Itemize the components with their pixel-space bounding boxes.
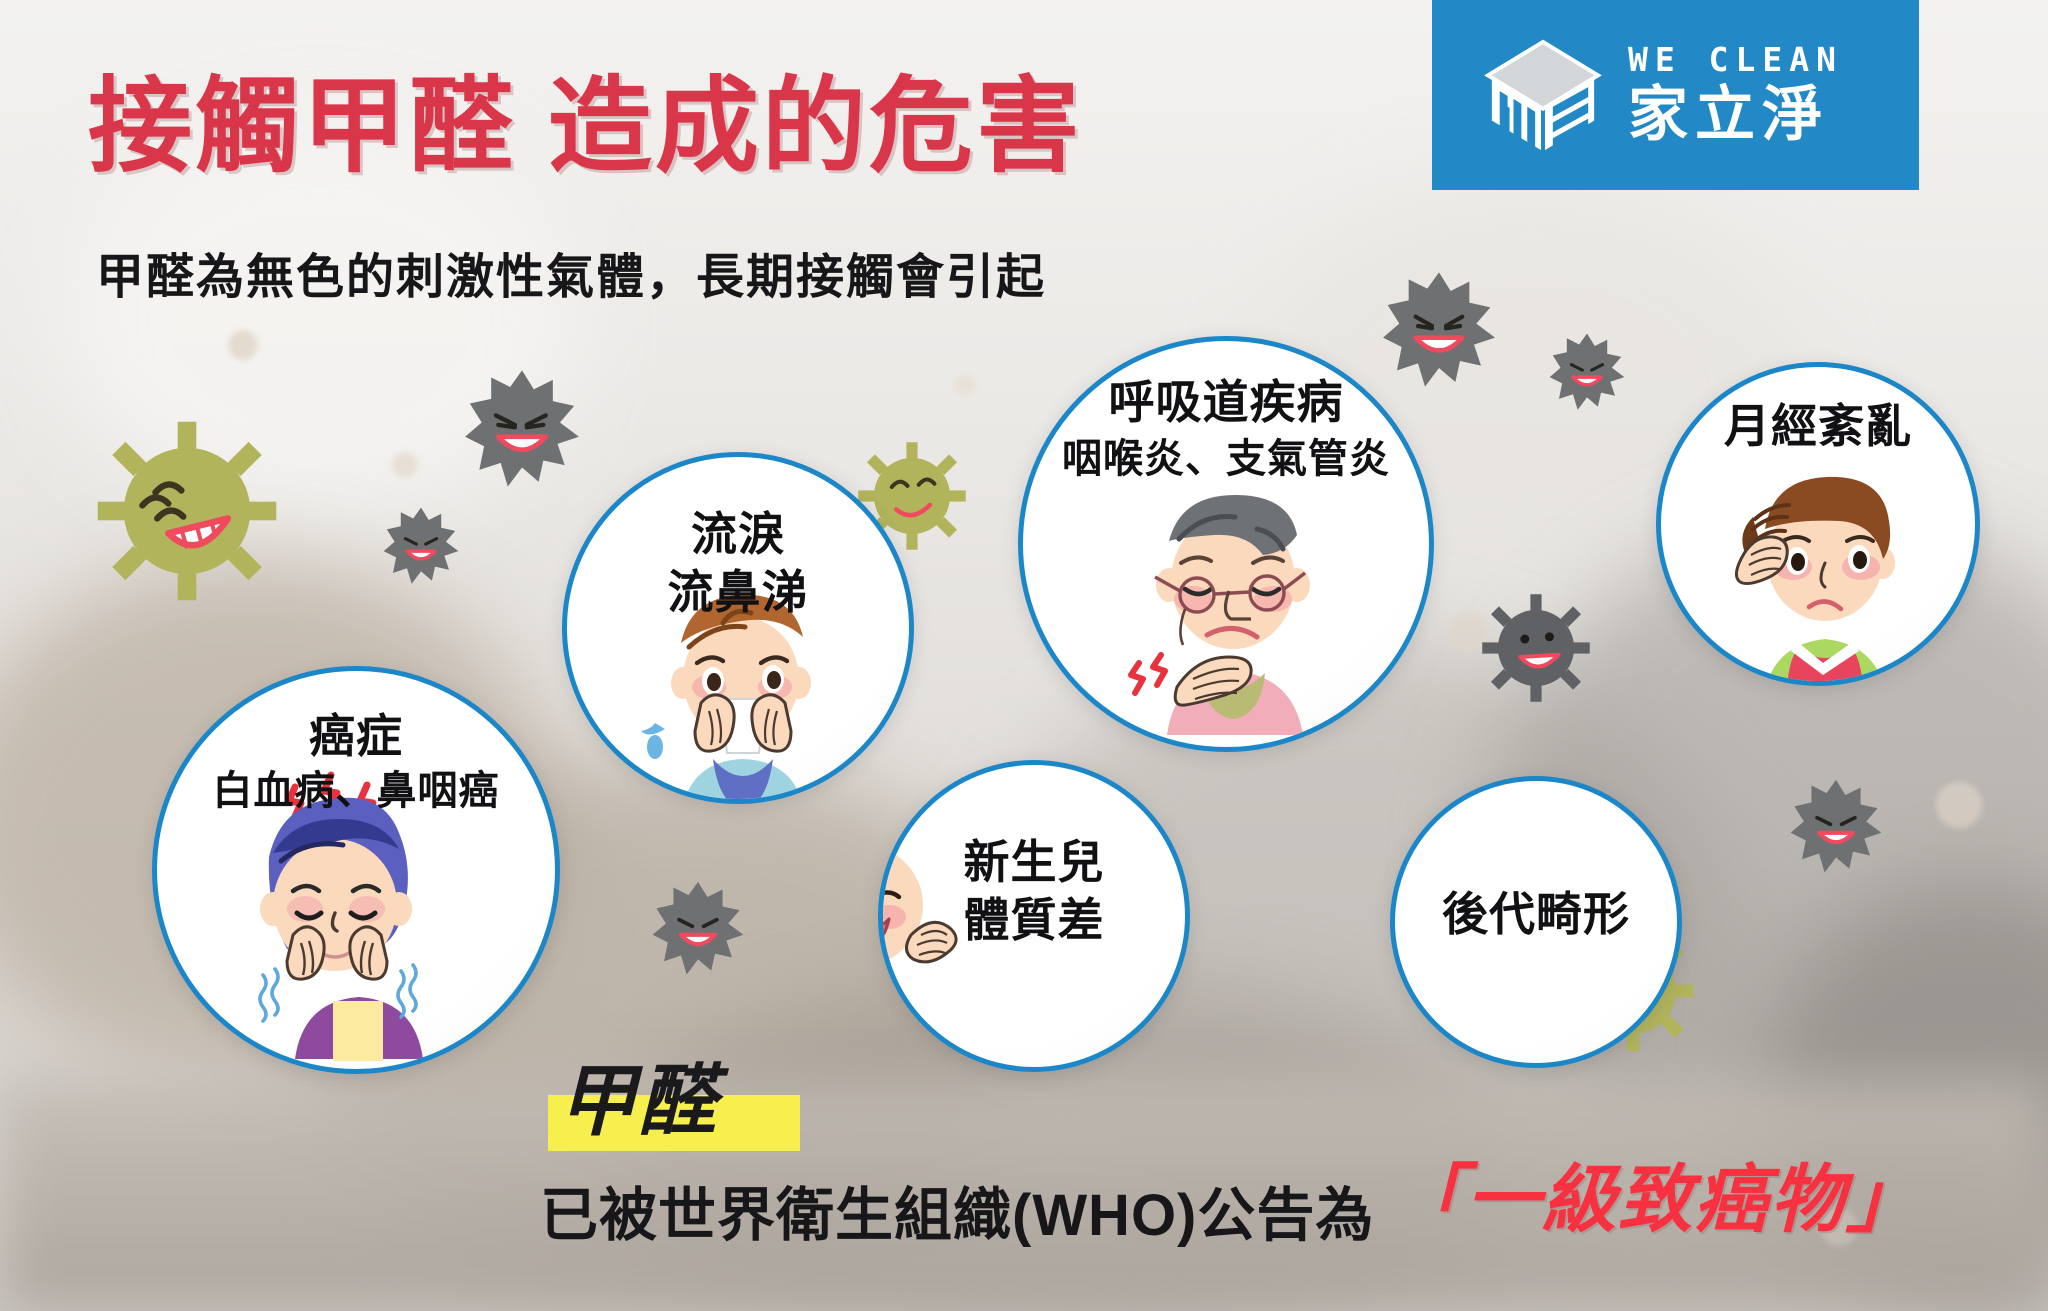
bubble-title: 月經紊亂 <box>1661 401 1975 453</box>
bubble-title: 流淚 <box>567 509 909 561</box>
woman-headache-illustration <box>1695 467 1957 681</box>
bubble-title: 後代畸形 <box>1395 889 1677 941</box>
bubble-title: 新生兒 <box>883 837 1185 889</box>
germ-olive-left <box>94 418 280 604</box>
symptom-bubble-tears[interactable]: 流淚 流鼻涕 <box>562 452 914 804</box>
germ-gray-bottom-left <box>650 880 746 982</box>
footer-highlight-word: 甲醛 <box>548 1058 728 1150</box>
elderly-man-sore-throat-illustration <box>1089 481 1379 747</box>
symptom-bubble-cancer[interactable]: 癌症 白血病、鼻咽癌 <box>152 666 560 1074</box>
germ-gray-mid-right <box>1480 592 1592 704</box>
bubble-subtitle: 體質差 <box>883 895 1185 947</box>
house-we-logo-icon <box>1484 36 1602 154</box>
logo-cn-text: 家立淨 <box>1628 81 1843 148</box>
germ-gray-top-right <box>1548 332 1626 416</box>
germ-gray-upper-left <box>462 368 582 496</box>
footer-emphasis: 「一級致癌物」 <box>1390 1140 1922 1247</box>
symptom-bubble-offspring[interactable]: 後代畸形 <box>1390 776 1682 1068</box>
footer-highlight-text: 甲醛 <box>558 1057 718 1145</box>
brand-logo[interactable]: WE CLEAN 家立淨 <box>1432 0 1919 190</box>
logo-en-text: WE CLEAN <box>1628 41 1843 79</box>
bubble-subtitle: 流鼻涕 <box>567 567 909 619</box>
bubble-subtitle: 白血病、鼻咽癌 <box>157 769 555 814</box>
footer-statement: 已被世界衛生組織(WHO)公告為 <box>540 1168 1374 1252</box>
symptom-bubble-respiratory[interactable]: 呼吸道疾病 咽喉炎、支氣管炎 <box>1018 336 1434 752</box>
germ-gray-right <box>1788 778 1884 880</box>
bubble-title: 癌症 <box>157 711 555 763</box>
infographic-poster: WE CLEAN 家立淨 接觸甲醛 造成的危害 甲醛為無色的刺激性氣體，長期接觸… <box>0 0 2048 1311</box>
symptom-bubble-newborn[interactable]: 新生兒 體質差 <box>878 760 1190 1072</box>
bubble-subtitle: 咽喉炎、支氣管炎 <box>1023 437 1429 482</box>
bubble-title: 呼吸道疾病 <box>1023 377 1429 429</box>
page-title: 接觸甲醛 造成的危害 <box>88 75 1083 179</box>
symptom-bubble-menstrual[interactable]: 月經紊亂 <box>1656 362 1980 686</box>
germ-gray-small-left <box>382 506 460 590</box>
page-subtitle: 甲醛為無色的刺激性氣體，長期接觸會引起 <box>96 237 1046 307</box>
